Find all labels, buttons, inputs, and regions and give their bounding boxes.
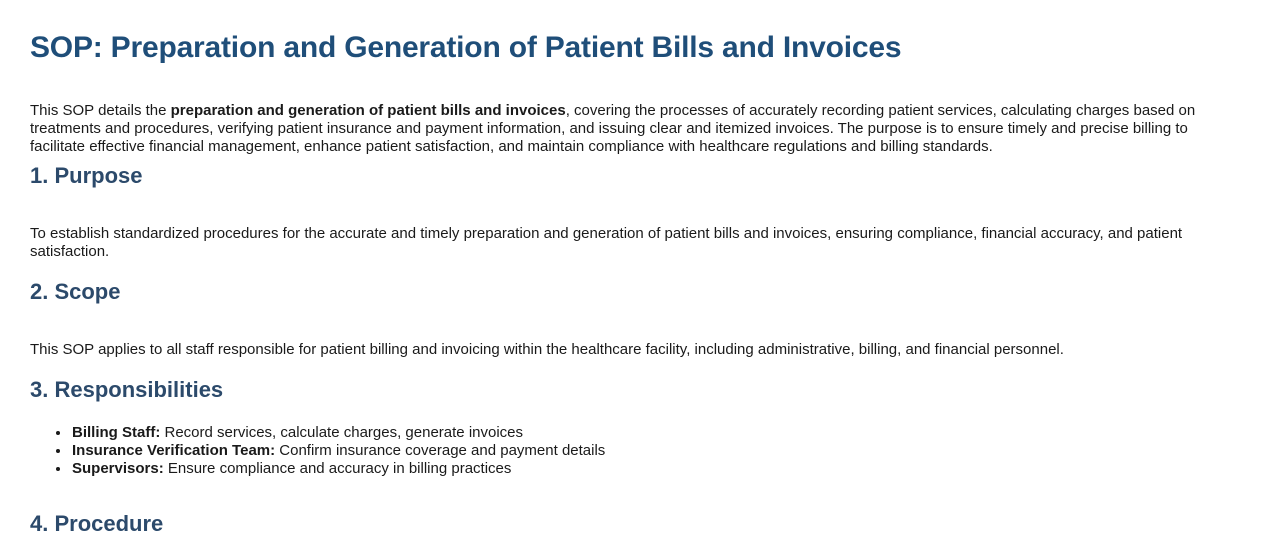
section-heading-procedure: 4. Procedure	[30, 511, 163, 537]
list-item-role: Supervisors:	[72, 460, 164, 477]
section-body-purpose: To establish standardized procedures for…	[30, 225, 1220, 261]
page-title: SOP: Preparation and Generation of Patie…	[30, 30, 901, 66]
document-page: SOP: Preparation and Generation of Patie…	[0, 0, 1263, 553]
list-item-role: Insurance Verification Team:	[72, 442, 275, 459]
section-heading-purpose: 1. Purpose	[30, 163, 142, 189]
list-item-role: Billing Staff:	[72, 424, 160, 441]
intro-text-part1: This SOP details the	[30, 102, 171, 119]
list-item-detail: Record services, calculate charges, gene…	[160, 424, 523, 441]
list-item-detail: Ensure compliance and accuracy in billin…	[164, 460, 512, 477]
intro-emphasis: preparation and generation of patient bi…	[171, 102, 566, 119]
section-heading-responsibilities: 3. Responsibilities	[30, 377, 223, 403]
list-item: Supervisors: Ensure compliance and accur…	[71, 460, 1220, 478]
list-item: Insurance Verification Team: Confirm ins…	[71, 442, 1220, 460]
list-item-detail: Confirm insurance coverage and payment d…	[275, 442, 605, 459]
responsibilities-list: Billing Staff: Record services, calculat…	[30, 424, 1220, 478]
list-item: Billing Staff: Record services, calculat…	[71, 424, 1220, 442]
section-body-scope: This SOP applies to all staff responsibl…	[30, 341, 1220, 359]
intro-paragraph: This SOP details the preparation and gen…	[30, 102, 1220, 156]
responsibilities-list-wrapper: Billing Staff: Record services, calculat…	[30, 424, 1220, 478]
section-heading-scope: 2. Scope	[30, 279, 120, 305]
